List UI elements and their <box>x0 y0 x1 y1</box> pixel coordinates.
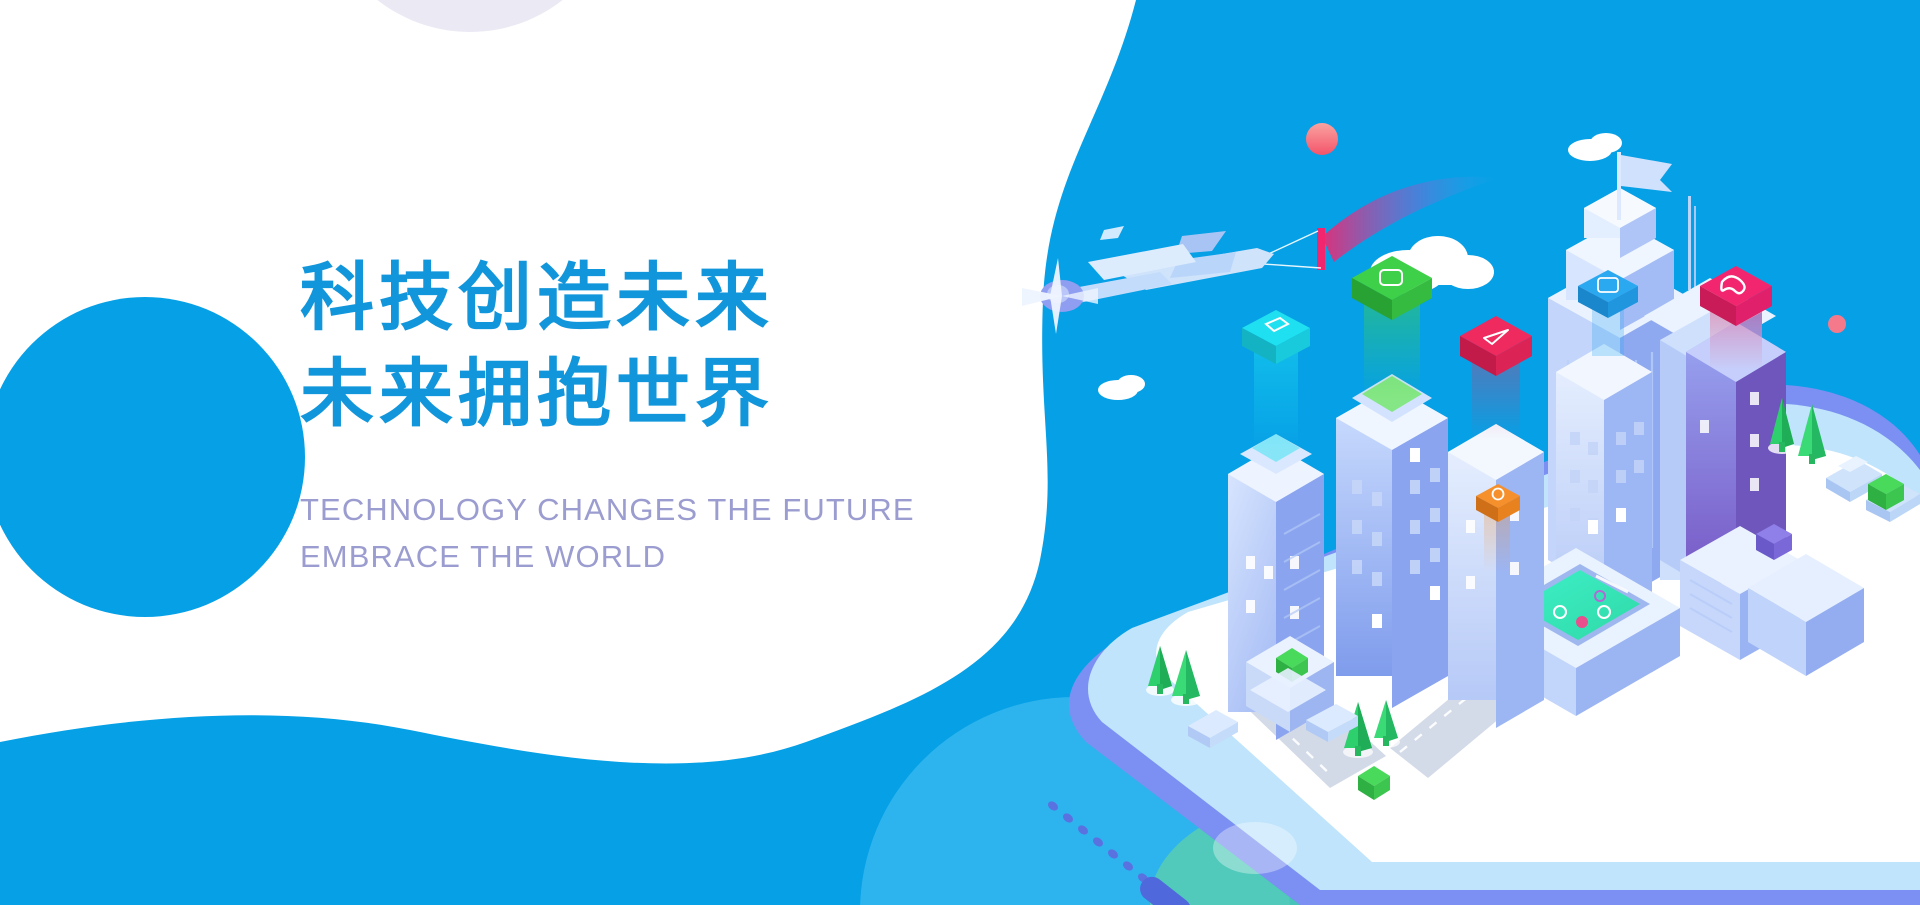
flag-icon <box>1621 155 1672 192</box>
cyan-beacon-group <box>1242 310 1310 450</box>
pink-beacon-group <box>1700 266 1772 370</box>
screen-highlight <box>1213 822 1297 874</box>
banner-streamer <box>1322 177 1498 262</box>
pink-balloon-icon <box>1306 123 1338 155</box>
building-green-tower <box>1336 374 1448 708</box>
hero-banner: 科技创造未来 未来拥抱世界 TECHNOLOGY CHANGES THE FUT… <box>0 0 1920 905</box>
subtitle-block: TECHNOLOGY CHANGES THE FUTURE EMBRACE TH… <box>300 486 1060 580</box>
headline-line-2: 未来拥抱世界 <box>300 346 1060 442</box>
green-beacon-group <box>1352 256 1432 400</box>
subtitle-line-1: TECHNOLOGY CHANGES THE FUTURE <box>300 486 1060 533</box>
headline-line-1: 科技创造未来 <box>300 250 1060 346</box>
subtitle-line-2: EMBRACE THE WORLD <box>300 533 1060 580</box>
cloud-tiny-icon <box>1098 375 1145 400</box>
cloud-small-icon <box>1568 133 1622 161</box>
pink-dot-icon <box>1828 315 1846 333</box>
streamer-flag <box>1317 228 1325 270</box>
hero-text-block: 科技创造未来 未来拥抱世界 TECHNOLOGY CHANGES THE FUT… <box>300 250 1060 581</box>
building-pink-send-tower <box>1448 424 1544 728</box>
